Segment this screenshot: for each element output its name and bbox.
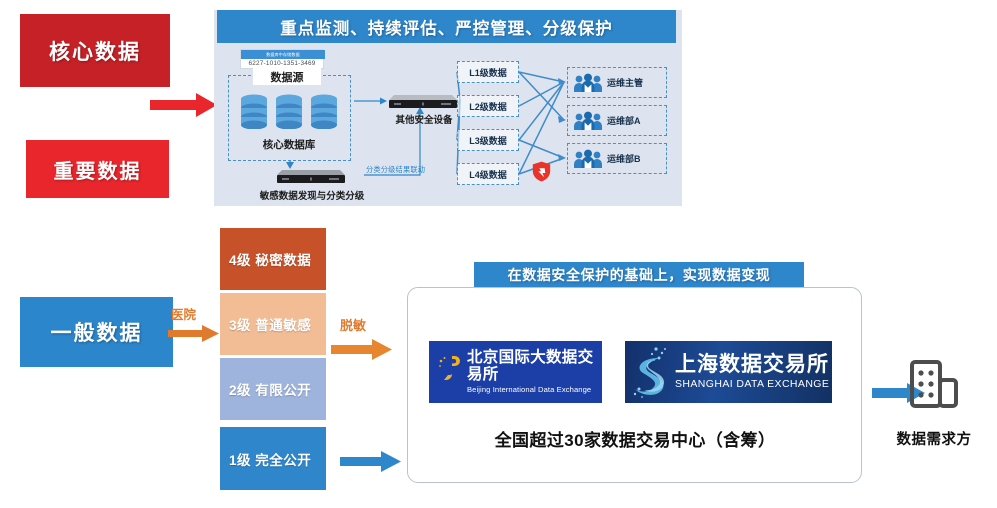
level-data-box-l2[interactable]: L2级数据 bbox=[457, 95, 519, 117]
level-label-4: 4级 秘密数据 bbox=[229, 249, 311, 269]
role-box-ops-manager[interactable]: 运维主管 bbox=[567, 67, 667, 98]
level-block-3[interactable]: 3级 普通敏感 bbox=[220, 293, 326, 355]
people-group-icon bbox=[573, 111, 603, 131]
role-label-ops-manager: 运维主管 bbox=[607, 76, 643, 89]
building-icon bbox=[908, 358, 960, 410]
demand-side-label: 数据需求方 bbox=[878, 428, 990, 449]
level-label-3: 3级 普通敏感 bbox=[229, 314, 311, 334]
category-label-important-data: 重要数据 bbox=[54, 155, 142, 184]
level-data-box-l4[interactable]: L4级数据 bbox=[457, 163, 519, 185]
monitoring-panel-title: 重点监测、持续评估、严控管理、分级保护 bbox=[280, 15, 613, 39]
red-arrow-icon bbox=[150, 92, 218, 118]
monitoring-panel-header: 重点监测、持续评估、严控管理、分级保护 bbox=[217, 10, 676, 43]
sensitive-data-discovery-device-icon bbox=[274, 167, 348, 185]
shanghai-exchange-mark-icon bbox=[629, 344, 671, 400]
category-label-general-data: 一般数据 bbox=[51, 317, 143, 347]
level-data-box-l3[interactable]: L3级数据 bbox=[457, 129, 519, 151]
exchange-name-en-beijing: Beijing International Data Exchange bbox=[467, 385, 602, 394]
exchange-name-cn-shanghai: 上海数据交易所 bbox=[675, 354, 829, 376]
monitoring-panel: 重点监测、持续评估、严控管理、分级保护 数据库中存储数据 6227-1010-1… bbox=[214, 10, 682, 206]
category-box-general-data[interactable]: 一般数据 bbox=[20, 297, 173, 367]
category-label-core-data: 核心数据 bbox=[49, 36, 141, 66]
level-label-1: 1级 完全公开 bbox=[229, 449, 311, 469]
role-label-ops-dept-b: 运维部B bbox=[607, 152, 641, 165]
role-box-ops-dept-b[interactable]: 运维部B bbox=[567, 143, 667, 174]
other-security-device-icon bbox=[386, 92, 460, 110]
exchange-name-en-shanghai: SHANGHAI DATA EXCHANGE bbox=[675, 378, 829, 390]
orange-arrow-hospital-icon bbox=[168, 324, 220, 343]
exchange-logo-beijing[interactable]: 北京国际大数据交易所 Beijing International Data Ex… bbox=[429, 341, 602, 403]
blue-arrow-public-icon bbox=[340, 450, 402, 473]
level-data-label-l4: L4级数据 bbox=[469, 168, 507, 181]
category-box-core-data[interactable]: 核心数据 bbox=[20, 14, 170, 87]
slide-canvas: 核心数据 重要数据 一般数据 4级 秘密数据 3级 普通敏感 2级 有限公开 1… bbox=[0, 0, 997, 508]
beijing-exchange-mark-icon bbox=[437, 352, 463, 392]
category-box-important-data[interactable]: 重要数据 bbox=[26, 140, 169, 198]
monetization-header: 在数据安全保护的基础上，实现数据变现 bbox=[474, 262, 804, 288]
people-group-icon bbox=[573, 73, 603, 93]
role-box-ops-dept-a[interactable]: 运维部A bbox=[567, 105, 667, 136]
shield-block-icon bbox=[532, 161, 551, 182]
role-label-ops-dept-a: 运维部A bbox=[607, 114, 641, 127]
exchange-logo-shanghai[interactable]: 上海数据交易所 SHANGHAI DATA EXCHANGE bbox=[625, 341, 832, 403]
level-data-label-l2: L2级数据 bbox=[469, 100, 507, 113]
monitoring-panel-body: 数据库中存储数据 6227-1010-1351-3469 数据源 bbox=[214, 43, 682, 206]
exchange-name-cn-beijing: 北京国际大数据交易所 bbox=[467, 350, 602, 383]
level-label-2: 2级 有限公开 bbox=[229, 379, 311, 399]
discovery-device-caption: 敏感数据发现与分类分级 bbox=[248, 188, 376, 202]
level-block-4[interactable]: 4级 秘密数据 bbox=[220, 228, 326, 290]
level-data-box-l1[interactable]: L1级数据 bbox=[457, 61, 519, 83]
orange-arrow-desensitize-icon bbox=[331, 338, 393, 361]
level-block-2[interactable]: 2级 有限公开 bbox=[220, 358, 326, 420]
classification-link-label: 分类分级结果联动 bbox=[366, 165, 425, 175]
level-block-1[interactable]: 1级 完全公开 bbox=[220, 427, 326, 490]
monetization-title: 在数据安全保护的基础上，实现数据变现 bbox=[508, 265, 771, 285]
exchange-caption: 全国超过30家数据交易中心（含筹） bbox=[415, 426, 855, 451]
level-data-label-l3: L3级数据 bbox=[469, 134, 507, 147]
hospital-label: 医院 bbox=[171, 304, 196, 323]
level-data-label-l1: L1级数据 bbox=[469, 66, 507, 79]
desensitize-label: 脱敏 bbox=[340, 315, 366, 334]
people-group-icon bbox=[573, 149, 603, 169]
